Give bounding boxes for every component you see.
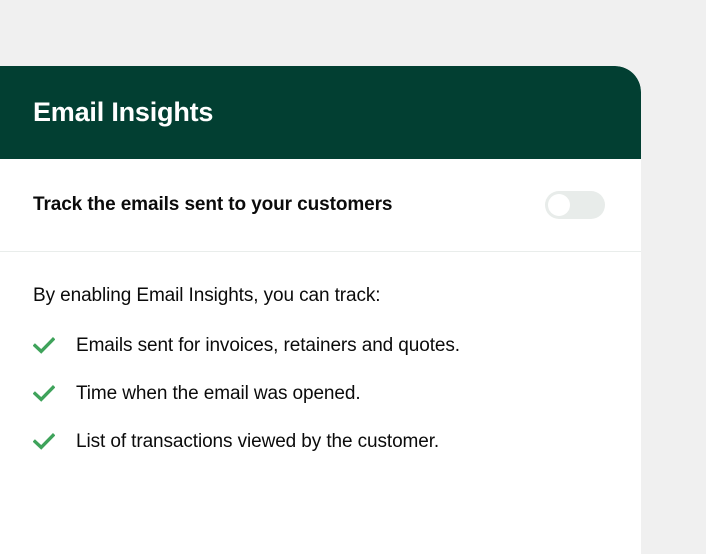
list-item: Time when the email was opened. xyxy=(33,382,608,406)
card-header: Email Insights xyxy=(0,66,641,159)
intro-text: By enabling Email Insights, you can trac… xyxy=(33,285,608,308)
card-body: By enabling Email Insights, you can trac… xyxy=(0,252,641,454)
check-icon xyxy=(33,382,55,406)
list-item: Emails sent for invoices, retainers and … xyxy=(33,334,608,358)
toggle-label: Track the emails sent to your customers xyxy=(33,194,392,216)
list-item-label: List of transactions viewed by the custo… xyxy=(76,430,439,454)
email-insights-toggle-row: Track the emails sent to your customers xyxy=(0,159,641,252)
page-title: Email Insights xyxy=(33,99,213,126)
check-icon xyxy=(33,430,55,454)
list-item: List of transactions viewed by the custo… xyxy=(33,430,608,454)
toggle-knob xyxy=(548,194,570,216)
email-insights-toggle[interactable] xyxy=(545,191,605,219)
check-icon xyxy=(33,334,55,358)
benefit-list: Emails sent for invoices, retainers and … xyxy=(33,334,608,454)
list-item-label: Time when the email was opened. xyxy=(76,382,361,406)
email-insights-card: Email Insights Track the emails sent to … xyxy=(0,66,641,554)
list-item-label: Emails sent for invoices, retainers and … xyxy=(76,334,460,358)
